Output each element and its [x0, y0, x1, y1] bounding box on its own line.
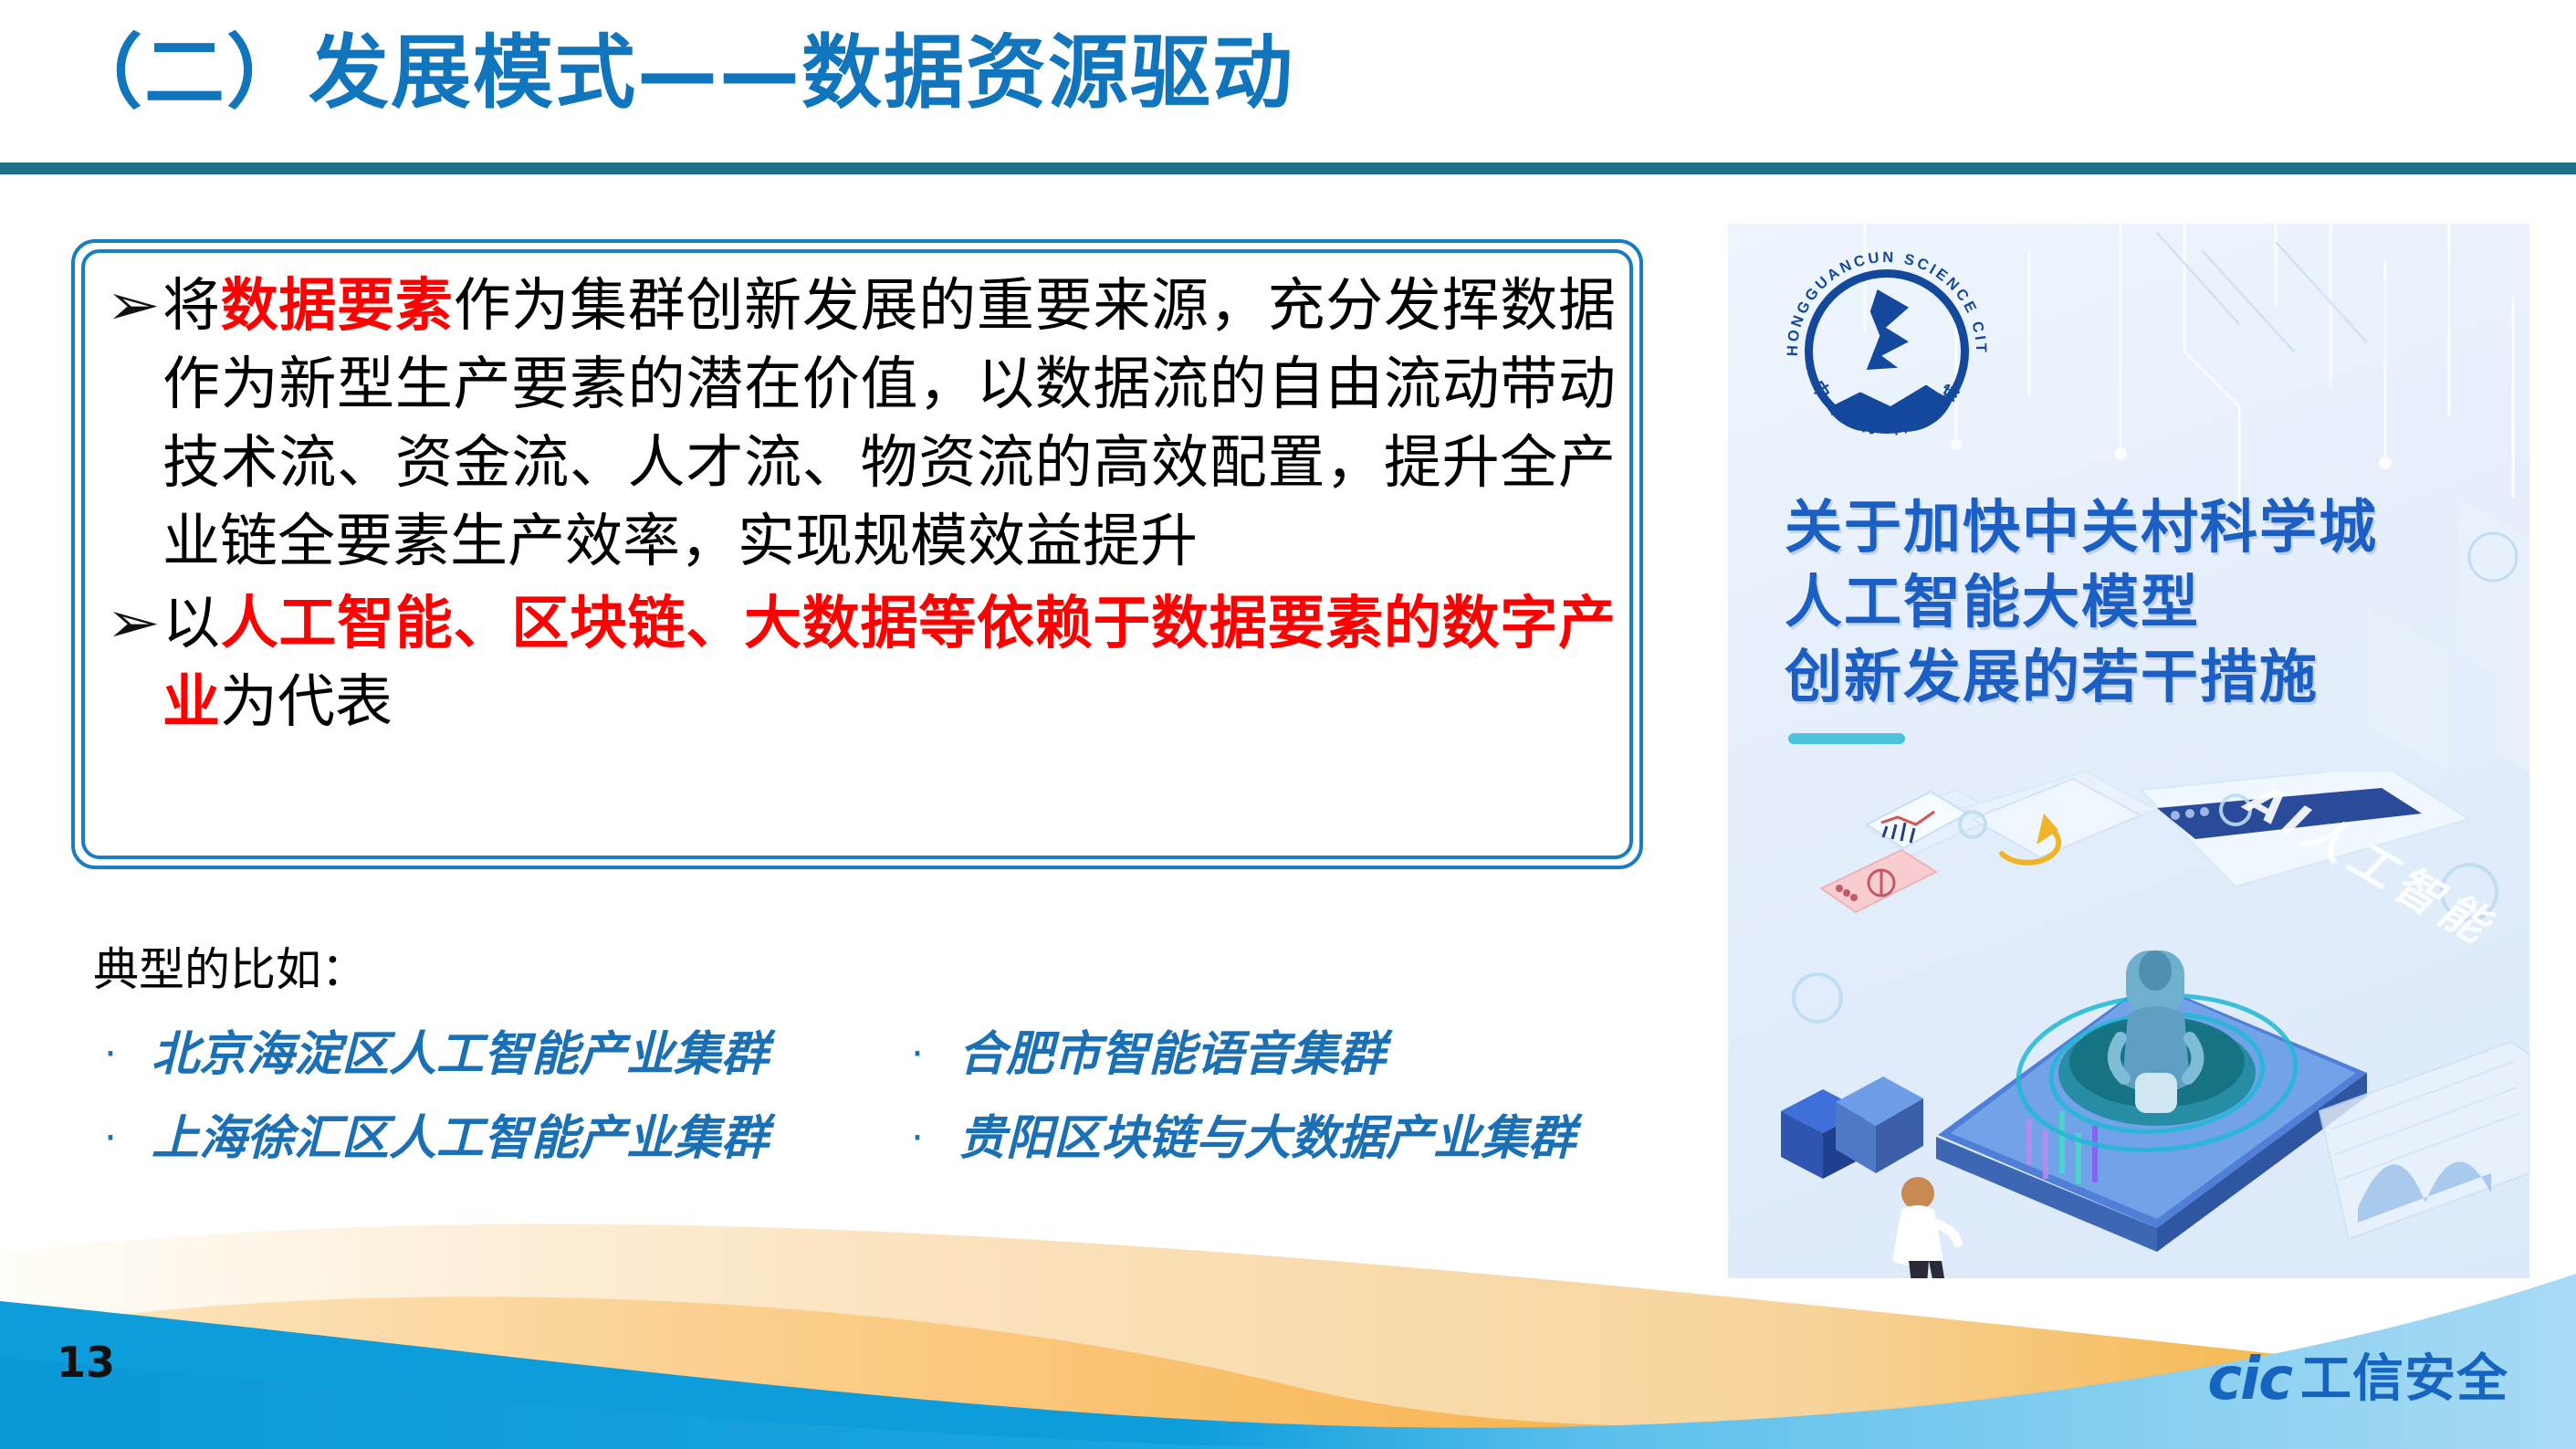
example-item-hefei: 合肥市智能语音集群 — [935, 1021, 1386, 1088]
title-divider-rule — [0, 163, 2576, 174]
logo-text-en: ZHONGGUANCUN SCIENCE CITY — [1781, 246, 1989, 356]
arrow-bullet-icon-2: ➢ — [106, 584, 171, 661]
isometric-ai-robot-illustration: AI人工智能 — [1728, 772, 2529, 1278]
example-item-beijing-haidian: 北京海淀区人工智能产业集群 — [128, 1021, 900, 1088]
example-row-1: · 北京海淀区人工智能产业集群 · 合肥市智能语音集群 — [93, 1021, 1700, 1088]
example-item-shanghai-xuhui: 上海徐汇区人工智能产业集群 — [128, 1105, 900, 1172]
poster-headline-line-1: 关于加快中关村科学城 — [1785, 490, 2478, 565]
iso-illustration-svg — [1728, 772, 2529, 1278]
footer-decoration: 13 cic 工信安全 — [0, 1221, 2576, 1449]
brand-name-cn: 工信安全 — [2300, 1354, 2508, 1405]
footer-wave-svg — [0, 1221, 2576, 1449]
slide-root: （二）发展模式——数据资源驱动 ➢ 将数据要素作为集群创新发展的重要来源，充分发… — [0, 0, 2576, 1449]
logo-text-cn: · 中 关 村 科 学 城 · — [1801, 362, 1973, 439]
bullet-item-2: ➢ 以人工智能、区块链、大数据等依赖于数据要素的数字产业为代表 — [106, 584, 1616, 741]
brand-mark-cic: cic — [2207, 1350, 2291, 1409]
bullet-1-seg-1: 将 — [162, 272, 221, 339]
content-box: ➢ 将数据要素作为集群创新发展的重要来源，充分发挥数据作为新型生产要素的潜在价值… — [71, 239, 1643, 869]
bullet-2-seg-3: 为代表 — [220, 668, 393, 735]
page-title: （二）发展模式——数据资源驱动 — [62, 33, 1294, 113]
title-area: （二）发展模式——数据资源驱动 — [0, 20, 2576, 148]
page-number: 13 — [57, 1341, 115, 1383]
bullet-2-seg-1: 以 — [162, 590, 221, 656]
poster-headline: 关于加快中关村科学城 人工智能大模型 创新发展的若干措施 — [1785, 490, 2478, 715]
bullet-item-1: ➢ 将数据要素作为集群创新发展的重要来源，充分发挥数据作为新型生产要素的潜在价值… — [106, 267, 1616, 581]
poster-headline-line-3: 创新发展的若干措施 — [1785, 640, 2478, 715]
bullet-1-seg-2-highlight: 数据要素 — [221, 272, 454, 339]
example-bullet-dot-icon-4: · — [900, 1105, 935, 1172]
example-bullet-dot-icon-3: · — [93, 1105, 128, 1172]
poster-accent-bar — [1788, 733, 1905, 744]
content-box-inner: ➢ 将数据要素作为集群创新发展的重要来源，充分发挥数据作为新型生产要素的潜在价值… — [106, 267, 1616, 851]
poster-headline-line-2: 人工智能大模型 — [1785, 565, 2478, 640]
logo-ring-text: ZHONGGUANCUN SCIENCE CITY · 中 关 村 科 学 城 … — [1781, 246, 1993, 457]
zhongguancun-sail-logo: ZHONGGUANCUN SCIENCE CITY · 中 关 村 科 学 城 … — [1781, 246, 1993, 457]
example-bullet-dot-icon: · — [93, 1021, 128, 1088]
example-row-2: · 上海徐汇区人工智能产业集群 · 贵阳区块链与大数据产业集群 — [93, 1105, 1700, 1172]
bullet-1-text: 将数据要素作为集群创新发展的重要来源，充分发挥数据作为新型生产要素的潜在价值，以… — [162, 267, 1616, 581]
example-item-guiyang: 贵阳区块链与大数据产业集群 — [935, 1105, 1576, 1172]
brand-logo: cic 工信安全 — [2207, 1350, 2508, 1409]
example-bullet-dot-icon-2: · — [900, 1021, 935, 1088]
arrow-bullet-icon: ➢ — [106, 267, 171, 343]
examples-section: 典型的比如： · 北京海淀区人工智能产业集群 · 合肥市智能语音集群 · 上海徐… — [93, 940, 1700, 1172]
bullet-2-text: 以人工智能、区块链、大数据等依赖于数据要素的数字产业为代表 — [162, 584, 1616, 741]
examples-lead-text: 典型的比如： — [93, 940, 1700, 999]
poster-image: ZHONGGUANCUN SCIENCE CITY · 中 关 村 科 学 城 … — [1728, 224, 2529, 1278]
